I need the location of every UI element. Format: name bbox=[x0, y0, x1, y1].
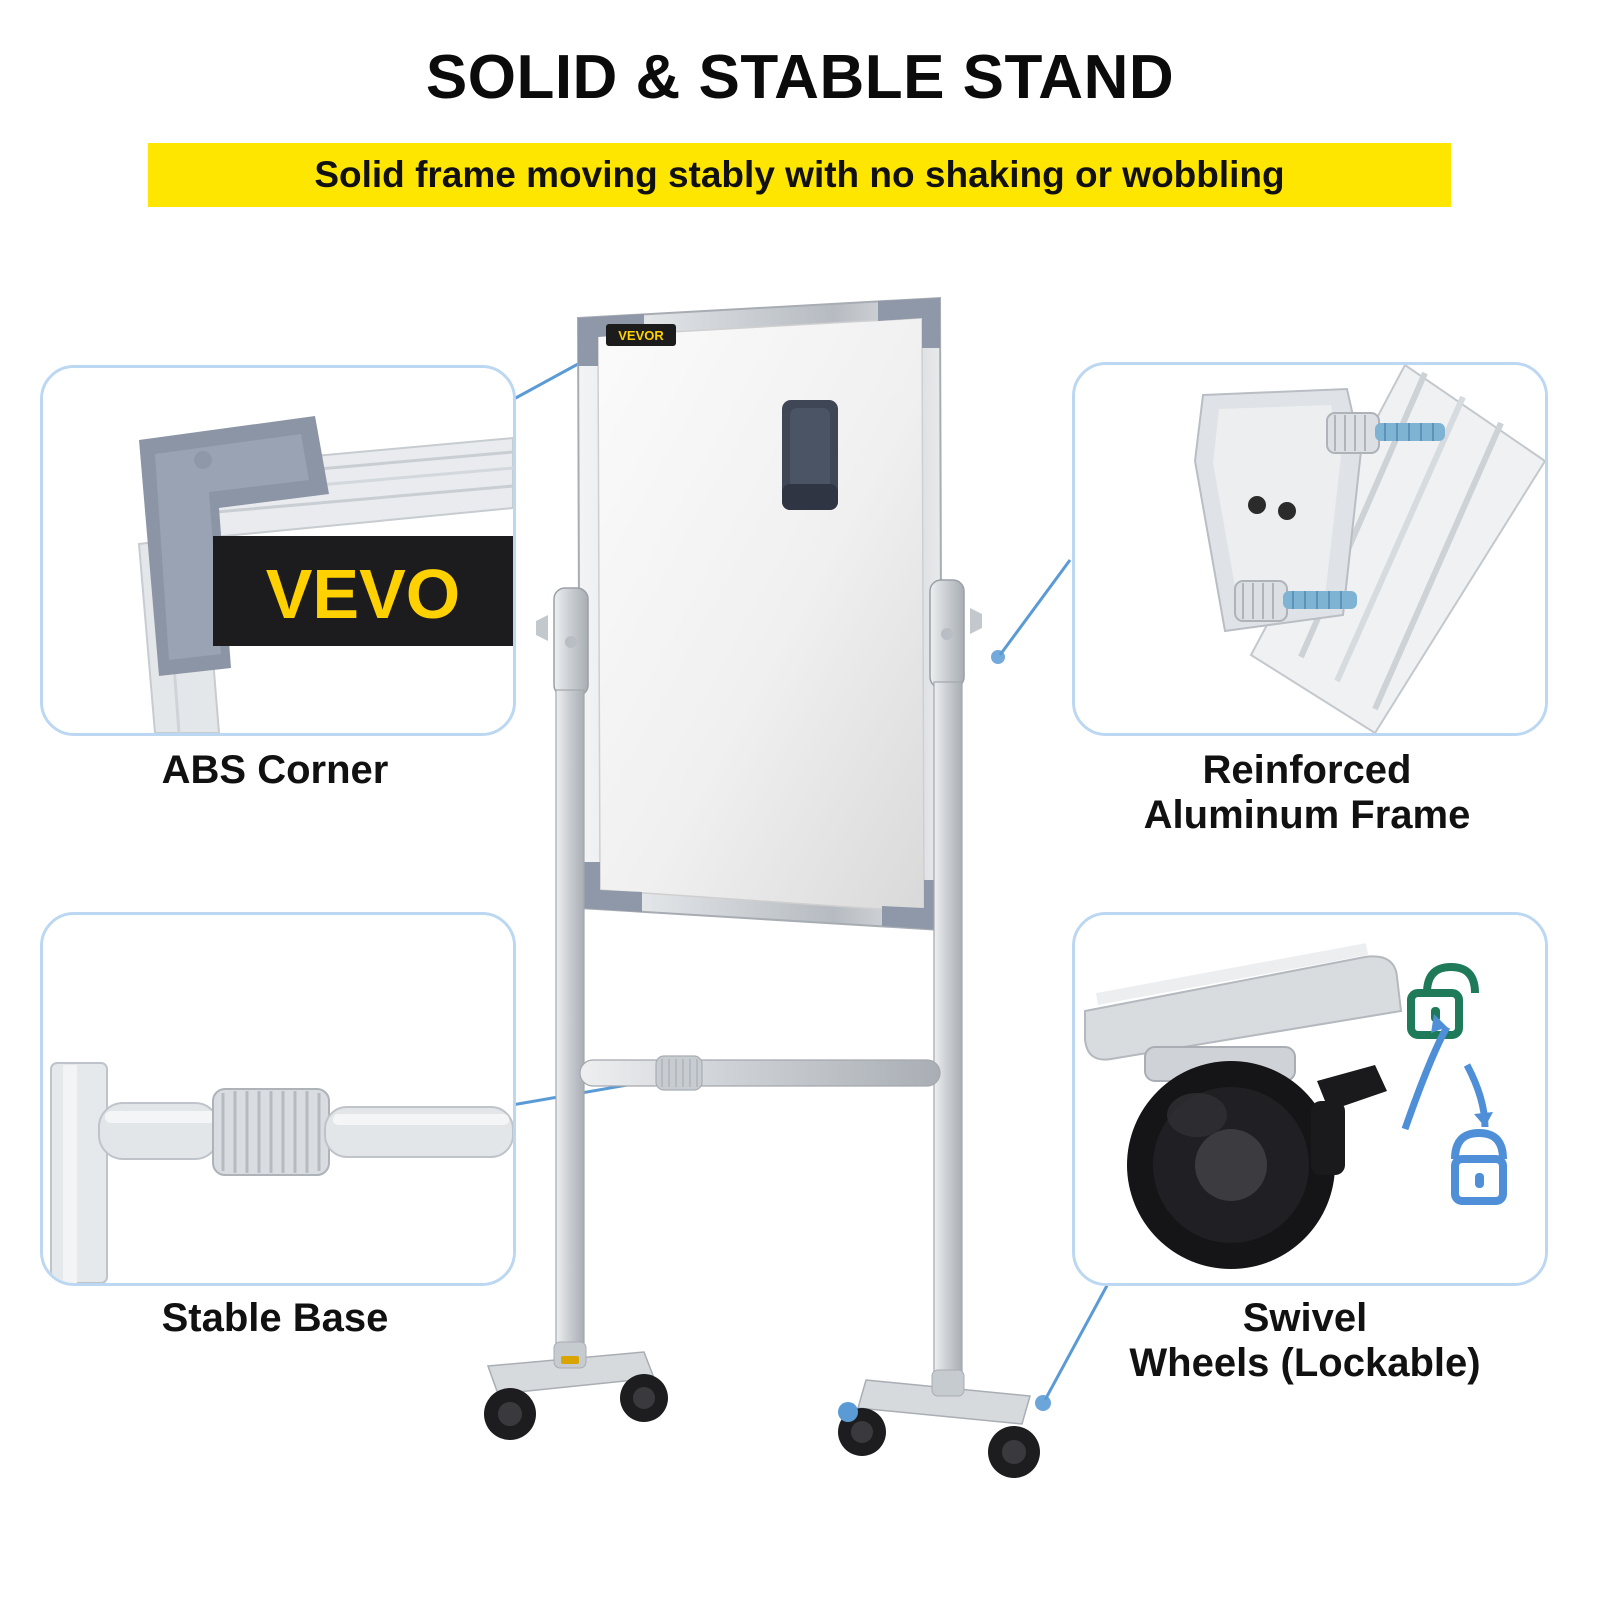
aluminum-frame-detail-image bbox=[1075, 365, 1545, 733]
callout-label-abs-corner: ABS Corner bbox=[40, 748, 510, 793]
subtitle-text: Solid frame moving stably with no shakin… bbox=[314, 154, 1284, 196]
vevor-wordmark-zoom: VEVO bbox=[266, 555, 461, 633]
swivel-wheel-front-left bbox=[484, 1388, 536, 1440]
abs-corner-detail-image: VEVO bbox=[43, 368, 513, 733]
cross-base-tube bbox=[580, 1056, 940, 1090]
whiteboard-panel bbox=[578, 298, 942, 930]
caster-wheel bbox=[1127, 1061, 1335, 1269]
callout-panel-reinforced-aluminum-frame bbox=[1072, 362, 1548, 736]
base-foot-right bbox=[858, 1370, 1030, 1424]
callout-label-stable-base: Stable Base bbox=[40, 1296, 510, 1341]
pivot-bracket-left bbox=[536, 588, 588, 696]
swivel-wheel-rear-right bbox=[988, 1426, 1040, 1478]
callout-label-swivel-wheels: Swivel Wheels (Lockable) bbox=[1050, 1296, 1560, 1386]
callout-panel-swivel-wheels bbox=[1072, 912, 1548, 1286]
callout-label-line2: Aluminum Frame bbox=[1062, 793, 1552, 838]
callout-label-line1: Swivel bbox=[1050, 1296, 1560, 1341]
support-post-left bbox=[556, 690, 584, 1378]
swivel-wheel-front-right bbox=[620, 1374, 668, 1422]
page-title: SOLID & STABLE STAND bbox=[0, 42, 1600, 113]
callout-panel-stable-base bbox=[40, 912, 516, 1286]
vevor-logo-plate: VEVOR bbox=[606, 324, 676, 346]
callout-label-line1: Reinforced bbox=[1062, 748, 1552, 793]
callout-label-reinforced-aluminum-frame: Reinforced Aluminum Frame bbox=[1062, 748, 1552, 838]
callout-panel-abs-corner: VEVO bbox=[40, 365, 516, 736]
adjustment-collar bbox=[213, 1089, 329, 1175]
svg-text:VEVOR: VEVOR bbox=[618, 328, 664, 343]
support-post-right bbox=[934, 682, 962, 1382]
magnetic-eraser bbox=[782, 400, 838, 510]
swivel-wheels-detail-image bbox=[1075, 915, 1545, 1283]
subtitle-highlight-band: Solid frame moving stably with no shakin… bbox=[148, 143, 1451, 207]
pivot-bracket-right bbox=[930, 580, 982, 688]
stable-base-detail-image bbox=[43, 915, 513, 1283]
callout-label-line2: Wheels (Lockable) bbox=[1050, 1341, 1560, 1386]
